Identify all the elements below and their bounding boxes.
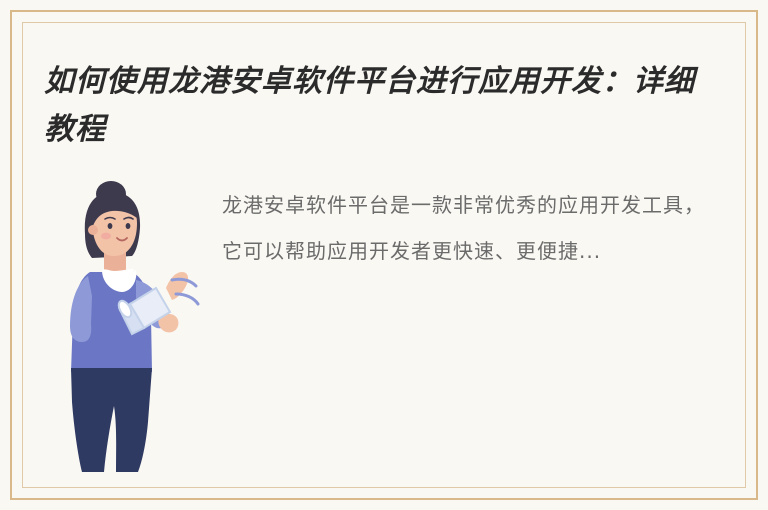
article-summary: 龙港安卓软件平台是一款非常优秀的应用开发工具，它可以帮助应用开发者更快速、更便捷…	[222, 182, 722, 274]
page-title: 如何使用龙港安卓软件平台进行应用开发：详细教程	[44, 58, 724, 154]
woman-with-megaphone-illustration	[44, 176, 214, 476]
article-card: 如何使用龙港安卓软件平台进行应用开发：详细教程	[0, 0, 768, 510]
